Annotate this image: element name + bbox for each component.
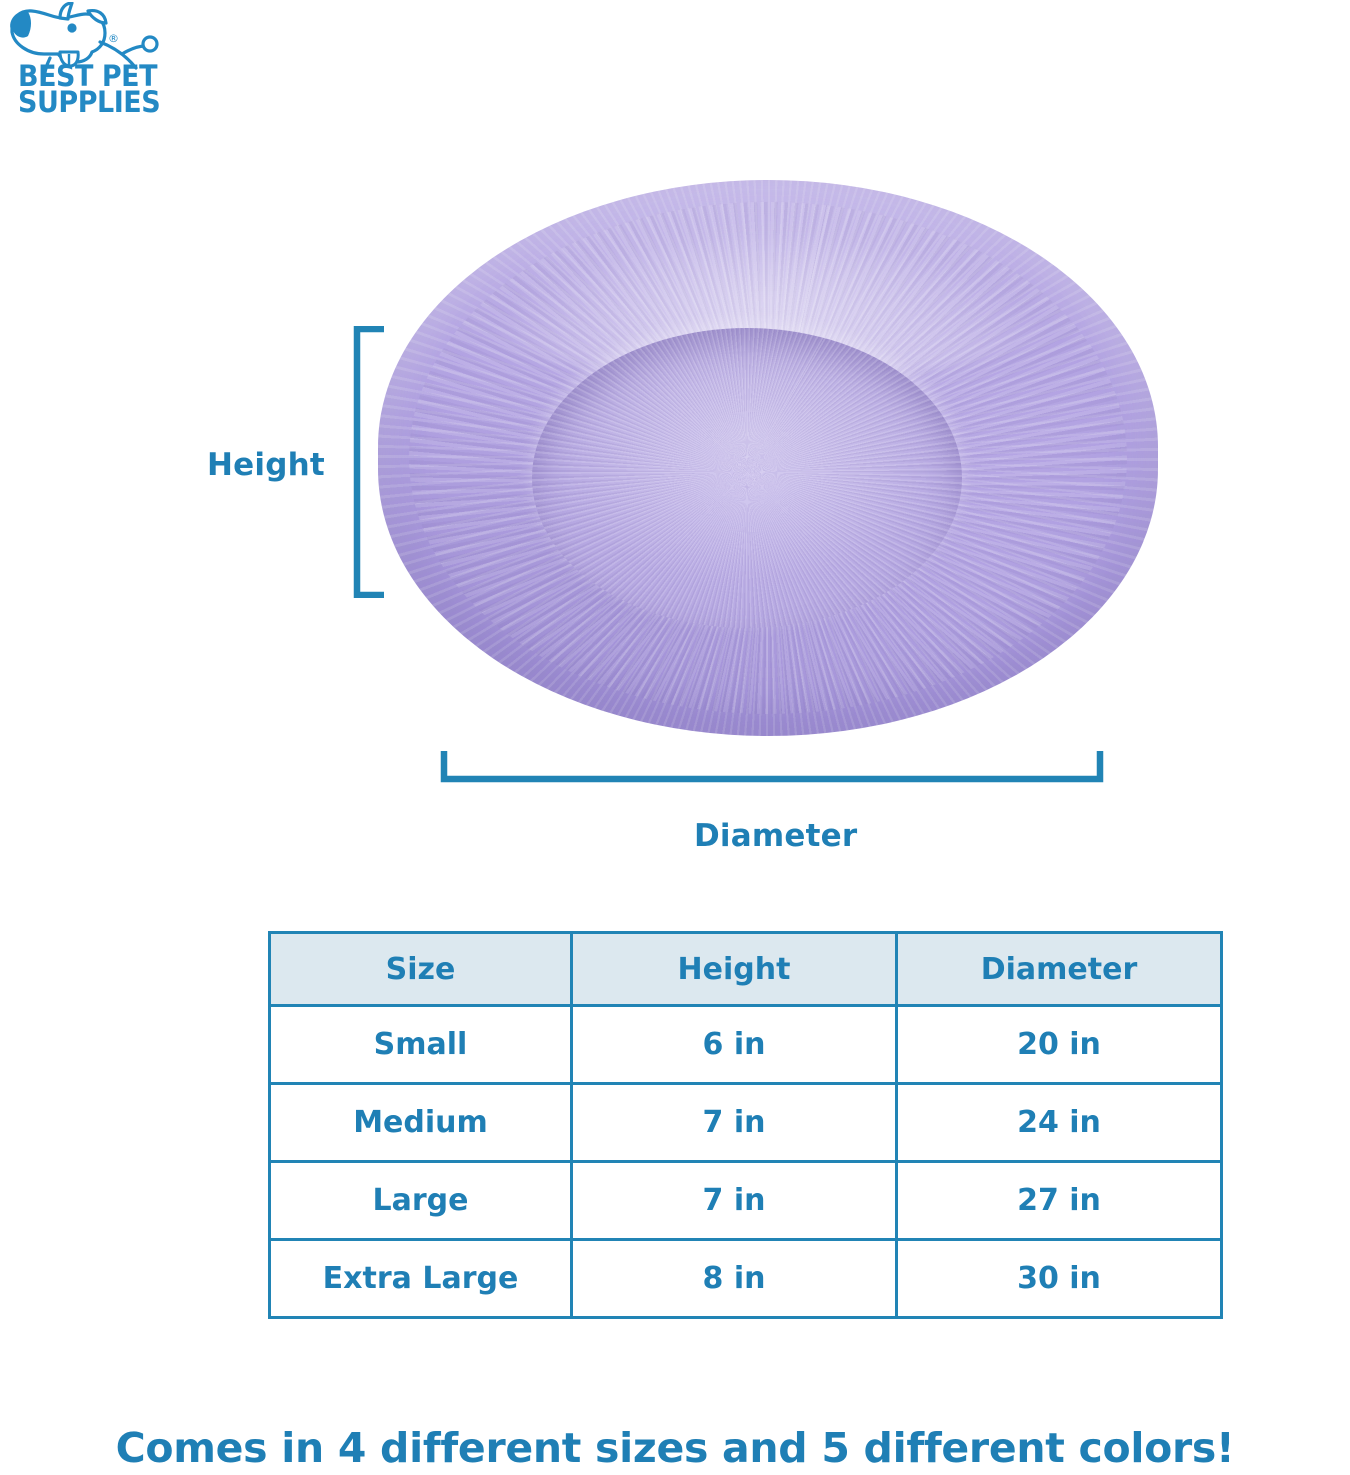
height-bracket-icon (352, 326, 386, 598)
cell-diameter: 27 in (897, 1162, 1222, 1240)
registered-mark: ® (108, 32, 119, 45)
height-callout-label: Height (207, 447, 325, 483)
cell-height: 7 in (572, 1084, 897, 1162)
bed-inner-cushion (532, 328, 962, 628)
cell-diameter: 24 in (897, 1084, 1222, 1162)
cell-diameter: 30 in (897, 1240, 1222, 1318)
table-row: Small 6 in 20 in (270, 1006, 1222, 1084)
cell-size: Extra Large (270, 1240, 572, 1318)
cell-size: Small (270, 1006, 572, 1084)
cell-size: Large (270, 1162, 572, 1240)
cell-height: 7 in (572, 1162, 897, 1240)
size-chart-table: Size Height Diameter Small 6 in 20 in Me… (268, 931, 1223, 1319)
cell-size: Medium (270, 1084, 572, 1162)
bed-inner-fur-texture (532, 328, 962, 628)
cell-height: 8 in (572, 1240, 897, 1318)
product-image-pet-bed (378, 168, 1158, 748)
cell-height: 6 in (572, 1006, 897, 1084)
diameter-bracket-icon (440, 748, 1104, 784)
diameter-callout-label: Diameter (694, 818, 857, 854)
table-row: Large 7 in 27 in (270, 1162, 1222, 1240)
column-header-diameter: Diameter (897, 933, 1222, 1006)
table-header-row: Size Height Diameter (270, 933, 1222, 1006)
column-header-height: Height (572, 933, 897, 1006)
brand-wordmark: BEST PET SUPPLIES (18, 64, 160, 115)
table-row: Extra Large 8 in 30 in (270, 1240, 1222, 1318)
table-row: Medium 7 in 24 in (270, 1084, 1222, 1162)
footer-caption: Comes in 4 different sizes and 5 differe… (0, 1424, 1350, 1472)
brand-logo: ® BEST PET SUPPLIES (4, 2, 169, 130)
column-header-size: Size (270, 933, 572, 1006)
cell-diameter: 20 in (897, 1006, 1222, 1084)
